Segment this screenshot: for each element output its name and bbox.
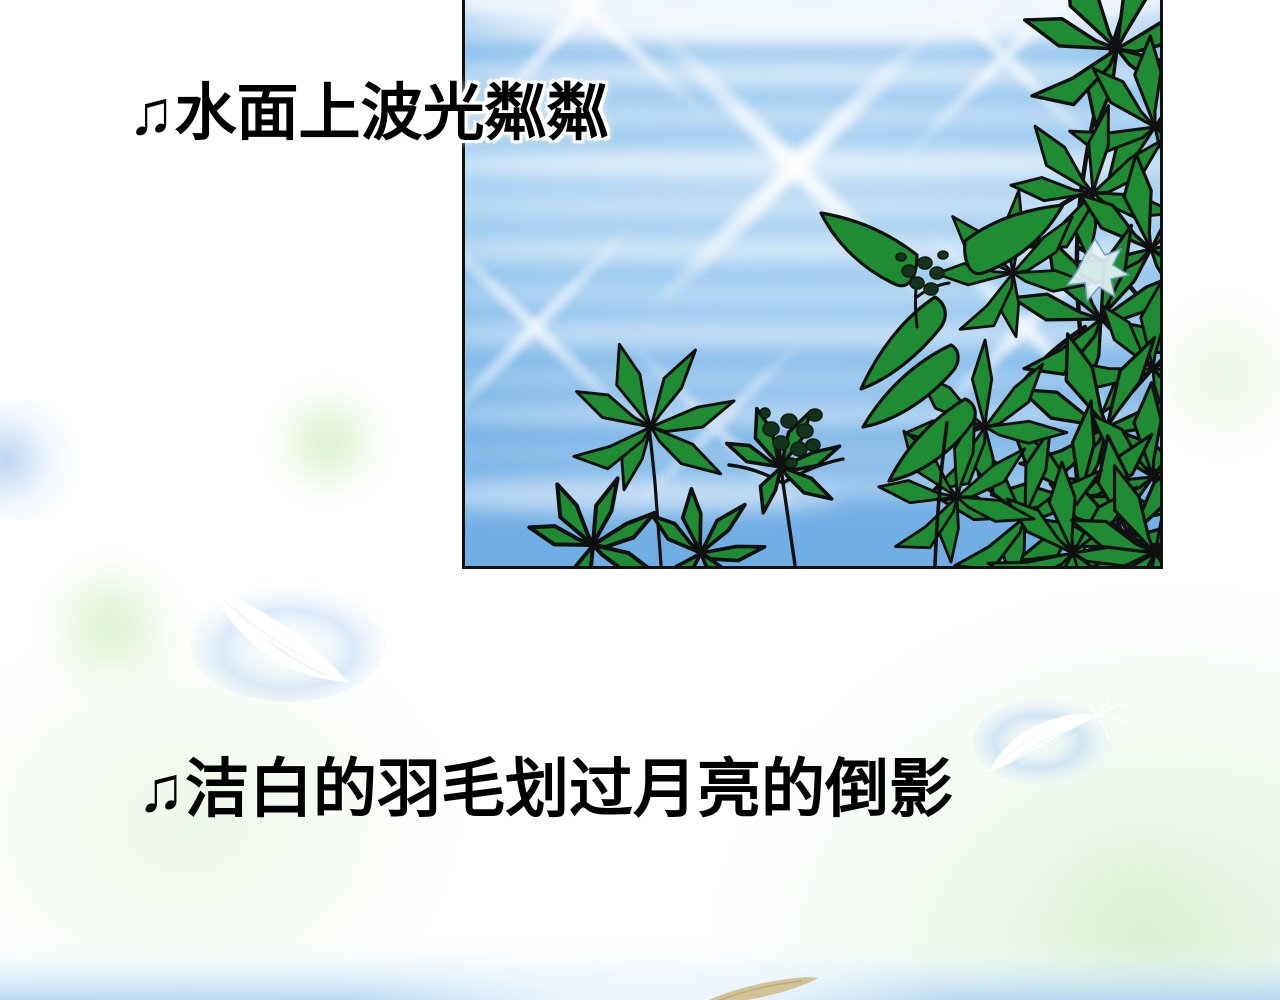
bokeh-circle: [276, 390, 380, 494]
bokeh-circle: [48, 562, 174, 688]
lyric-line-bottom: ♫洁白的羽毛划过月亮的倒影: [137, 757, 953, 821]
bottom-blue-band: [0, 940, 1280, 1000]
bokeh-circle: [1150, 300, 1280, 450]
slide-canvas: ♫水面上波光粼粼 ♫洁白的羽毛划过月亮的倒影: [0, 0, 1280, 1000]
bottom-blue-band-glow: [358, 944, 947, 1000]
feather-decoration-right: [975, 690, 1150, 810]
gold-wisp-decoration: [700, 972, 820, 1000]
background-wash-left-blue: [0, 400, 90, 520]
bokeh-circle: [1040, 842, 1230, 992]
feather-decoration-left: [180, 556, 390, 706]
lyric-line-top: ♫水面上波光粼粼: [128, 83, 609, 145]
